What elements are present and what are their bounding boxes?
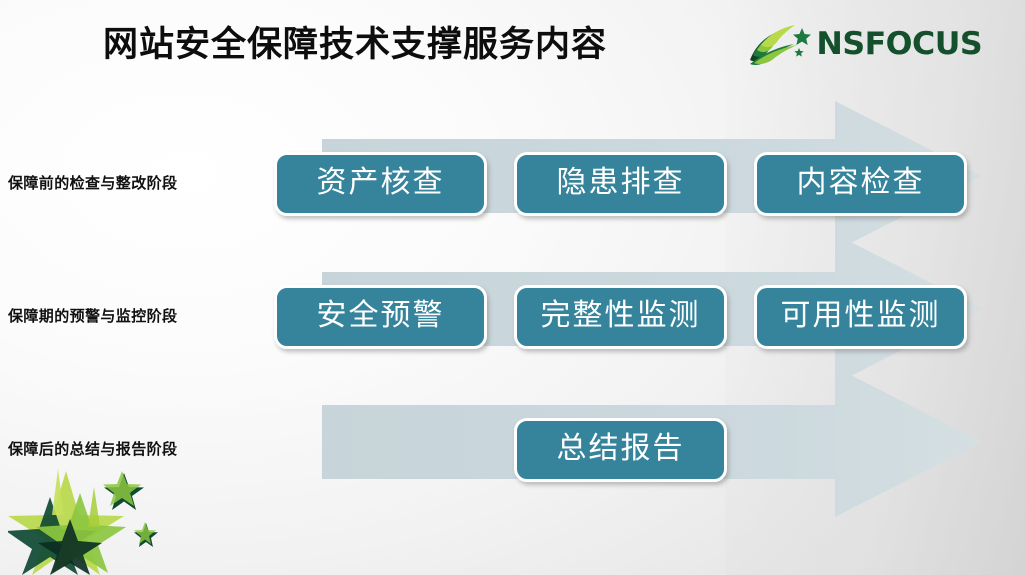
nsfocus-swoosh-icon [748, 24, 816, 66]
chip-availability-monitor[interactable]: 可用性监测 [754, 285, 967, 349]
chip-security-warning-label: 安全预警 [317, 301, 445, 333]
chip-asset-check-label: 资产核查 [317, 168, 445, 200]
chip-hazard-investigation[interactable]: 隐患排查 [514, 152, 727, 216]
chip-integrity-monitor-label: 完整性监测 [541, 301, 701, 333]
green-star-burst-icon [8, 467, 198, 575]
stage-label-pre: 保障前的检查与整改阶段 [8, 172, 266, 193]
chip-content-check-label: 内容检查 [797, 168, 925, 200]
nsfocus-wordmark: NSFOCUS [816, 29, 982, 60]
nsfocus-logo: NSFOCUS [748, 22, 996, 67]
chip-integrity-monitor[interactable]: 完整性监测 [514, 285, 727, 349]
chip-summary-report[interactable]: 总结报告 [514, 418, 727, 482]
chip-hazard-investigation-label: 隐患排查 [557, 168, 685, 200]
chip-security-warning[interactable]: 安全预警 [274, 285, 487, 349]
slide-canvas: 网站安全保障技术支撑服务内容 NSFOCUS 保障前的检查与整改阶段 资产核查 … [0, 0, 1025, 575]
chip-availability-monitor-label: 可用性监测 [781, 301, 941, 333]
chip-summary-report-label: 总结报告 [557, 434, 685, 466]
page-title: 网站安全保障技术支撑服务内容 [103, 24, 607, 66]
chip-asset-check[interactable]: 资产核查 [274, 152, 487, 216]
stage-label-during: 保障期的预警与监控阶段 [8, 305, 266, 326]
stage-label-post: 保障后的总结与报告阶段 [8, 438, 266, 459]
chip-content-check[interactable]: 内容检查 [754, 152, 967, 216]
